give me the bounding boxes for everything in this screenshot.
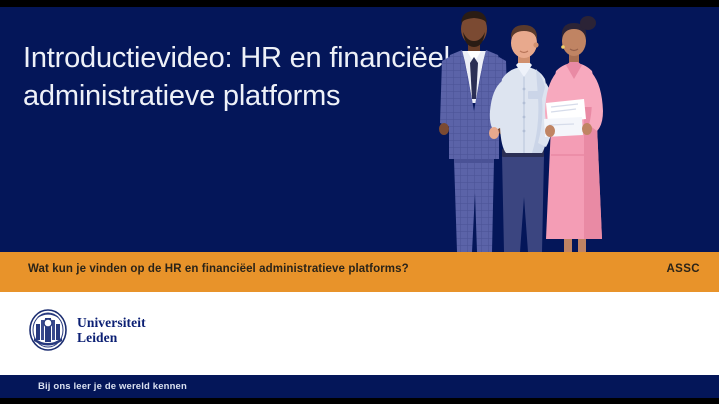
leiden-university-seal-icon bbox=[28, 308, 68, 352]
footer-tagline-text: Bij ons leer je de wereld kennen bbox=[38, 381, 187, 392]
orange-question-banner: Wat kun je vinden op de HR en financiëel… bbox=[0, 252, 719, 292]
leiden-university-logo: Universiteit Leiden bbox=[28, 308, 146, 352]
figure-woman-in-pink-dress bbox=[544, 16, 603, 252]
letterbox-bottom-bar bbox=[0, 398, 719, 404]
footer-tagline-bar: Bij ons leer je de wereld kennen bbox=[0, 375, 719, 398]
banner-department-label: ASSC bbox=[666, 263, 700, 275]
leiden-university-wordmark: Universiteit Leiden bbox=[77, 315, 146, 345]
banner-question-text: Wat kun je vinden op de HR en financiëel… bbox=[28, 263, 409, 275]
white-logo-band: Universiteit Leiden bbox=[0, 292, 719, 375]
letterbox-top-bar bbox=[0, 0, 719, 7]
three-colleagues-illustration bbox=[432, 7, 622, 252]
presentation-slide: Introductievideo: HR en financiëel admin… bbox=[0, 0, 719, 404]
page-title: Introductievideo: HR en financiëel admin… bbox=[23, 39, 453, 115]
hero-navy-panel: Introductievideo: HR en financiëel admin… bbox=[0, 7, 719, 252]
